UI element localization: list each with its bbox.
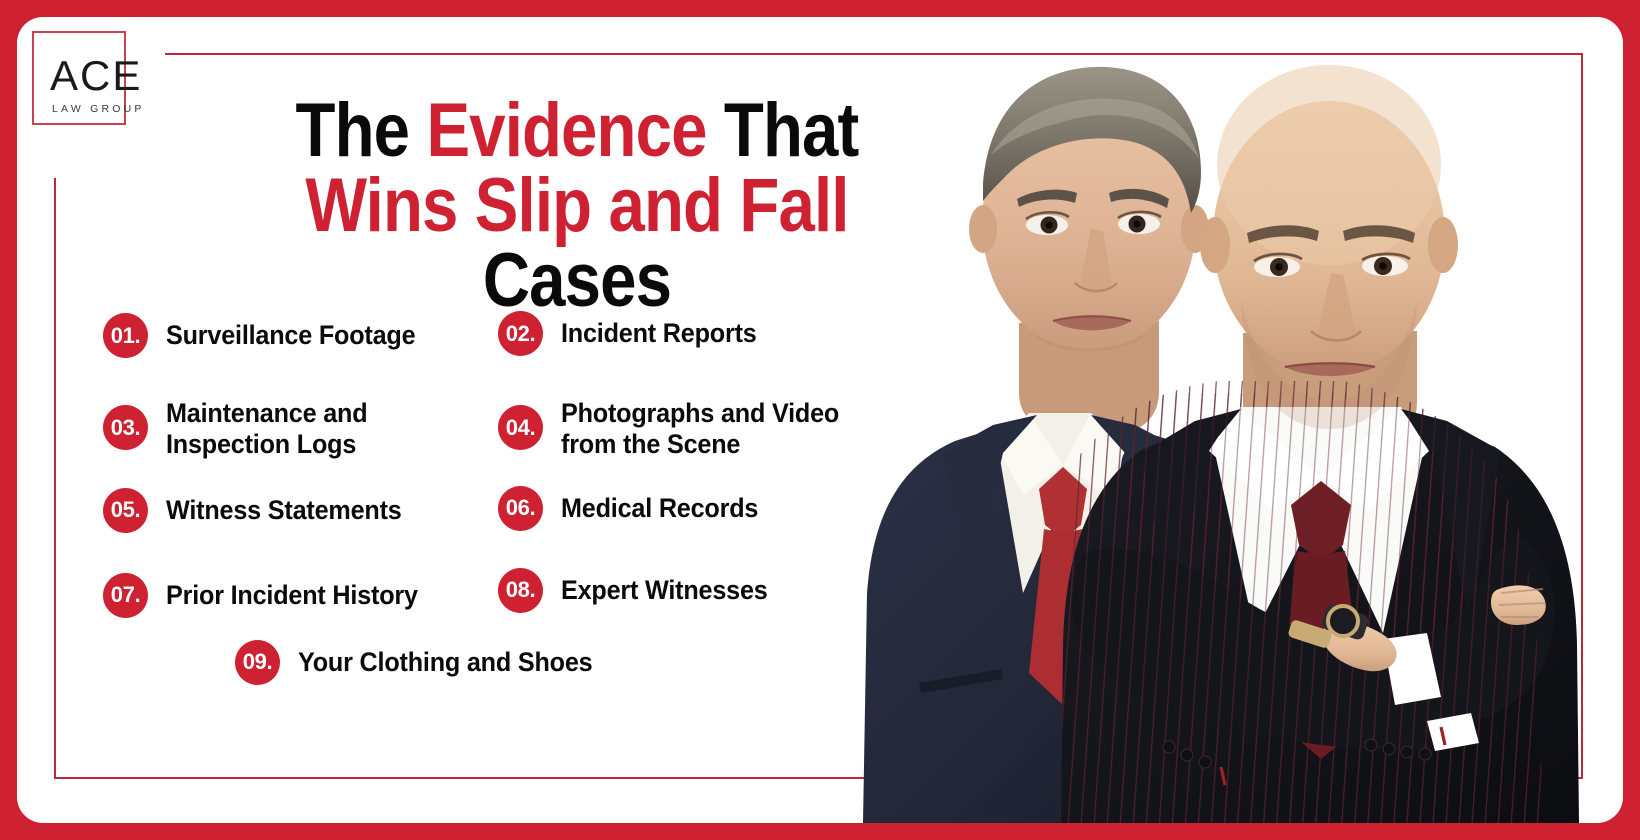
list-item[interactable]: 03. Maintenance and Inspection Logs [103,391,378,461]
item-number-badge: 01. [103,313,148,358]
list-column-left: 05. Witness Statements [103,488,498,533]
ace-law-group-logo: ACE LAW GROUP [32,31,144,143]
list-item[interactable]: 07. Prior Incident History [103,573,431,618]
list-column-right: 06. Medical Records [498,488,893,533]
list-column-left: 07. Prior Incident History [103,573,498,618]
item-label: Your Clothing and Shoes [298,640,592,678]
list-row: 07. Prior Incident History 08. Expert Wi… [103,573,893,618]
attorney-right [1053,65,1593,823]
poster-root: ACE LAW GROUP The Evidence That Wins Sli… [0,0,1640,840]
logo-tagline: LAW GROUP [52,103,145,115]
page-title: The Evidence That Wins Slip and Fall Cas… [224,93,929,319]
attorneys-photo [823,33,1623,823]
item-label: Incident Reports [561,311,757,349]
headline-part-the: The [296,88,427,173]
list-column-right: 04. Photographs and Video from the Scene [498,391,893,461]
list-item[interactable]: 05. Witness Statements [103,488,414,533]
item-label: Witness Statements [166,488,402,526]
evidence-list: 01. Surveillance Footage 02. Incident Re… [103,313,893,685]
item-number-badge: 07. [103,573,148,618]
item-label: Medical Records [561,486,758,524]
list-item[interactable]: 04. Photographs and Video from the Scene [498,391,854,461]
item-label: Maintenance and Inspection Logs [166,391,367,461]
item-number-badge: 05. [103,488,148,533]
item-number-badge: 06. [498,486,543,531]
list-column-right: 08. Expert Witnesses [498,573,893,618]
list-item[interactable]: 08. Expert Witnesses [498,568,778,613]
headline-part-fall: Fall [739,163,848,248]
logo-wordmark: ACE [50,55,142,97]
list-column-left: 03. Maintenance and Inspection Logs [103,391,498,461]
item-number-badge: 03. [103,405,148,450]
list-item[interactable]: 02. Incident Reports [498,311,767,356]
poster-card: ACE LAW GROUP The Evidence That Wins Sli… [17,17,1623,823]
item-label: Prior Incident History [166,573,418,611]
item-label: Surveillance Footage [166,313,415,351]
list-column-left: 01. Surveillance Footage [103,313,498,358]
list-row: 05. Witness Statements 06. Medical Recor… [103,488,893,533]
item-number-badge: 08. [498,568,543,613]
list-column-right: 02. Incident Reports [498,313,893,358]
list-row: 01. Surveillance Footage 02. Incident Re… [103,313,893,358]
headline-part-evidence: Evidence [426,88,723,173]
headline-part-that: That [724,88,859,173]
list-item[interactable]: 01. Surveillance Footage [103,313,429,358]
list-row: 09. Your Clothing and Shoes [103,640,893,685]
item-number-badge: 02. [498,311,543,356]
item-label: Expert Witnesses [561,568,768,606]
wristwatch [1287,603,1370,649]
list-item[interactable]: 06. Medical Records [498,486,769,531]
list-row: 03. Maintenance and Inspection Logs 04. … [103,391,893,461]
headline-part-wins-slip-and: Wins Slip and [305,163,722,248]
item-number-badge: 04. [498,405,543,450]
item-number-badge: 09. [235,640,280,685]
item-label: Photographs and Video from the Scene [561,391,839,461]
list-item[interactable]: 09. Your Clothing and Shoes [235,640,608,685]
